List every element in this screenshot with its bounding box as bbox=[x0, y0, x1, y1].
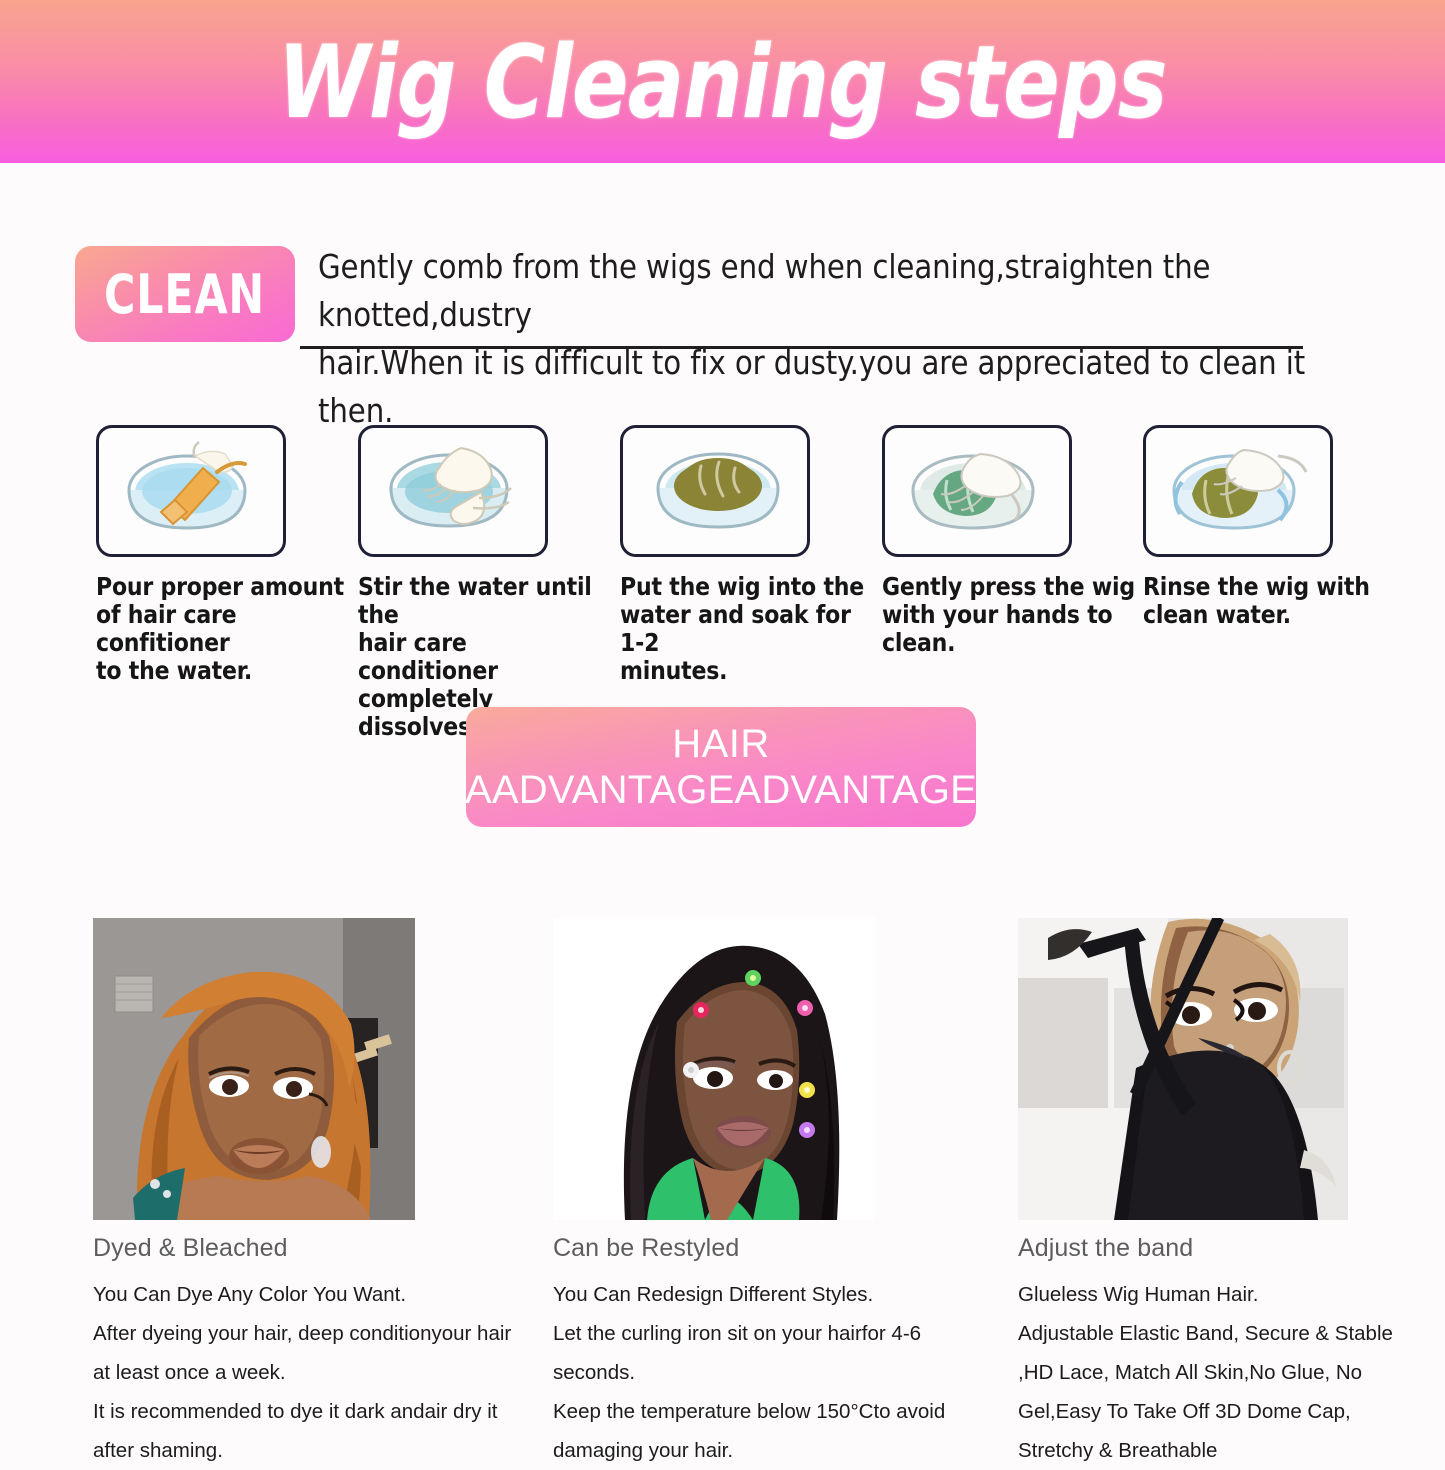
step-5-caption-line-1: Rinse the wig with bbox=[1143, 573, 1396, 601]
step-1-caption-line-3: to the water. bbox=[96, 657, 349, 685]
advantage-body-2: You Can Redesign Different Styles. Let t… bbox=[553, 1275, 953, 1470]
page-title: Wig Cleaning steps bbox=[278, 23, 1167, 141]
adjustable-band-wig-cap-photo bbox=[1018, 918, 1348, 1220]
advantage-title-3: Adjust the band bbox=[1018, 1234, 1418, 1263]
clean-description: Gently comb from the wigs end when clean… bbox=[318, 243, 1318, 435]
step-1-caption-line-2: of hair care confitioner bbox=[96, 601, 349, 657]
basin-hands-press-wig-icon bbox=[882, 425, 1072, 557]
hair-advantage-line-2: AADVANTAGEADVANTAGE bbox=[465, 767, 977, 813]
advantage-1-line-3: at least once a week. bbox=[93, 1353, 493, 1392]
basin-pour-conditioner-icon bbox=[96, 425, 286, 557]
advantage-2-line-3: seconds. bbox=[553, 1353, 953, 1392]
step-4-caption-line-2: with your hands to clean. bbox=[882, 601, 1135, 657]
advantage-1-line-2: After dyeing your hair, deep conditionyo… bbox=[93, 1314, 493, 1353]
step-3-caption: Put the wig into the water and soak for … bbox=[620, 573, 873, 685]
page-header-banner: Wig Cleaning steps bbox=[0, 0, 1445, 163]
step-5-caption-line-2: clean water. bbox=[1143, 601, 1396, 629]
advantage-3-line-5: Stretchy & Breathable bbox=[1018, 1431, 1418, 1470]
step-2: Stir the water until the hair care condi… bbox=[358, 425, 550, 741]
advantage-3-line-1: Glueless Wig Human Hair. bbox=[1018, 1275, 1418, 1314]
advantage-2-line-4: Keep the temperature below 150°Cto avoid bbox=[553, 1392, 953, 1431]
clean-section: CLEAN Gently comb from the wigs end when… bbox=[0, 246, 1445, 356]
advantage-3-line-2: Adjustable Elastic Band, Secure & Stable bbox=[1018, 1314, 1418, 1353]
step-4-caption: Gently press the wig with your hands to … bbox=[882, 573, 1135, 657]
basin-rinse-wig-icon bbox=[1143, 425, 1333, 557]
advantage-column-3: Adjust the band Glueless Wig Human Hair.… bbox=[1018, 918, 1418, 1470]
step-5-caption: Rinse the wig with clean water. bbox=[1143, 573, 1396, 629]
basin-hands-stir-icon bbox=[358, 425, 548, 557]
step-2-caption-line-1: Stir the water until the bbox=[358, 573, 611, 629]
advantage-2-line-1: You Can Redesign Different Styles. bbox=[553, 1275, 953, 1314]
advantage-column-2: Can be Restyled You Can Redesign Differe… bbox=[553, 918, 953, 1470]
step-2-caption-line-2: hair care conditioner bbox=[358, 629, 611, 685]
clean-badge: CLEAN bbox=[75, 246, 295, 342]
clean-badge-label: CLEAN bbox=[104, 263, 265, 326]
step-1-caption-line-1: Pour proper amount bbox=[96, 573, 349, 601]
step-1-caption: Pour proper amount of hair care confitio… bbox=[96, 573, 349, 685]
advantage-body-1: You Can Dye Any Color You Want. After dy… bbox=[93, 1275, 493, 1470]
step-3-caption-line-3: minutes. bbox=[620, 657, 873, 685]
advantage-body-3: Glueless Wig Human Hair. Adjustable Elas… bbox=[1018, 1275, 1418, 1470]
step-3-caption-line-2: water and soak for 1-2 bbox=[620, 601, 873, 657]
step-4-caption-line-1: Gently press the wig bbox=[882, 573, 1135, 601]
advantage-3-line-3: ,HD Lace, Match All Skin,No Glue, No bbox=[1018, 1353, 1418, 1392]
advantage-title-2: Can be Restyled bbox=[553, 1234, 953, 1263]
hair-advantage-line-1: HAIR bbox=[672, 721, 770, 767]
step-3: Put the wig into the water and soak for … bbox=[620, 425, 812, 685]
advantage-title-1: Dyed & Bleached bbox=[93, 1234, 493, 1263]
basin-wig-soak-icon bbox=[620, 425, 810, 557]
step-1: Pour proper amount of hair care confitio… bbox=[96, 425, 288, 685]
advantage-1-line-5: after shaming. bbox=[93, 1431, 493, 1470]
advantage-3-line-4: Gel,Easy To Take Off 3D Dome Cap, bbox=[1018, 1392, 1418, 1431]
advantage-columns: Dyed & Bleached You Can Dye Any Color Yo… bbox=[0, 918, 1445, 1438]
step-5: Rinse the wig with clean water. bbox=[1143, 425, 1335, 629]
cleaning-steps-row: Pour proper amount of hair care confitio… bbox=[0, 425, 1445, 670]
hair-advantage-banner: HAIR AADVANTAGEADVANTAGE bbox=[466, 707, 976, 827]
advantage-column-1: Dyed & Bleached You Can Dye Any Color Yo… bbox=[93, 918, 493, 1470]
ginger-wavy-bob-photo bbox=[93, 918, 415, 1220]
advantage-2-line-2: Let the curling iron sit on your hairfor… bbox=[553, 1314, 953, 1353]
clean-description-line-1: Gently comb from the wigs end when clean… bbox=[318, 243, 1318, 339]
advantage-1-line-4: It is recommended to dye it dark andair … bbox=[93, 1392, 493, 1431]
advantage-1-line-1: You Can Dye Any Color You Want. bbox=[93, 1275, 493, 1314]
black-straight-bob-flower-clips-photo bbox=[553, 918, 875, 1220]
step-3-caption-line-1: Put the wig into the bbox=[620, 573, 873, 601]
step-4: Gently press the wig with your hands to … bbox=[882, 425, 1074, 657]
advantage-2-line-5: damaging your hair. bbox=[553, 1431, 953, 1470]
section-divider bbox=[300, 346, 1303, 349]
clean-description-line-2: hair.When it is difficult to fix or dust… bbox=[318, 339, 1318, 435]
